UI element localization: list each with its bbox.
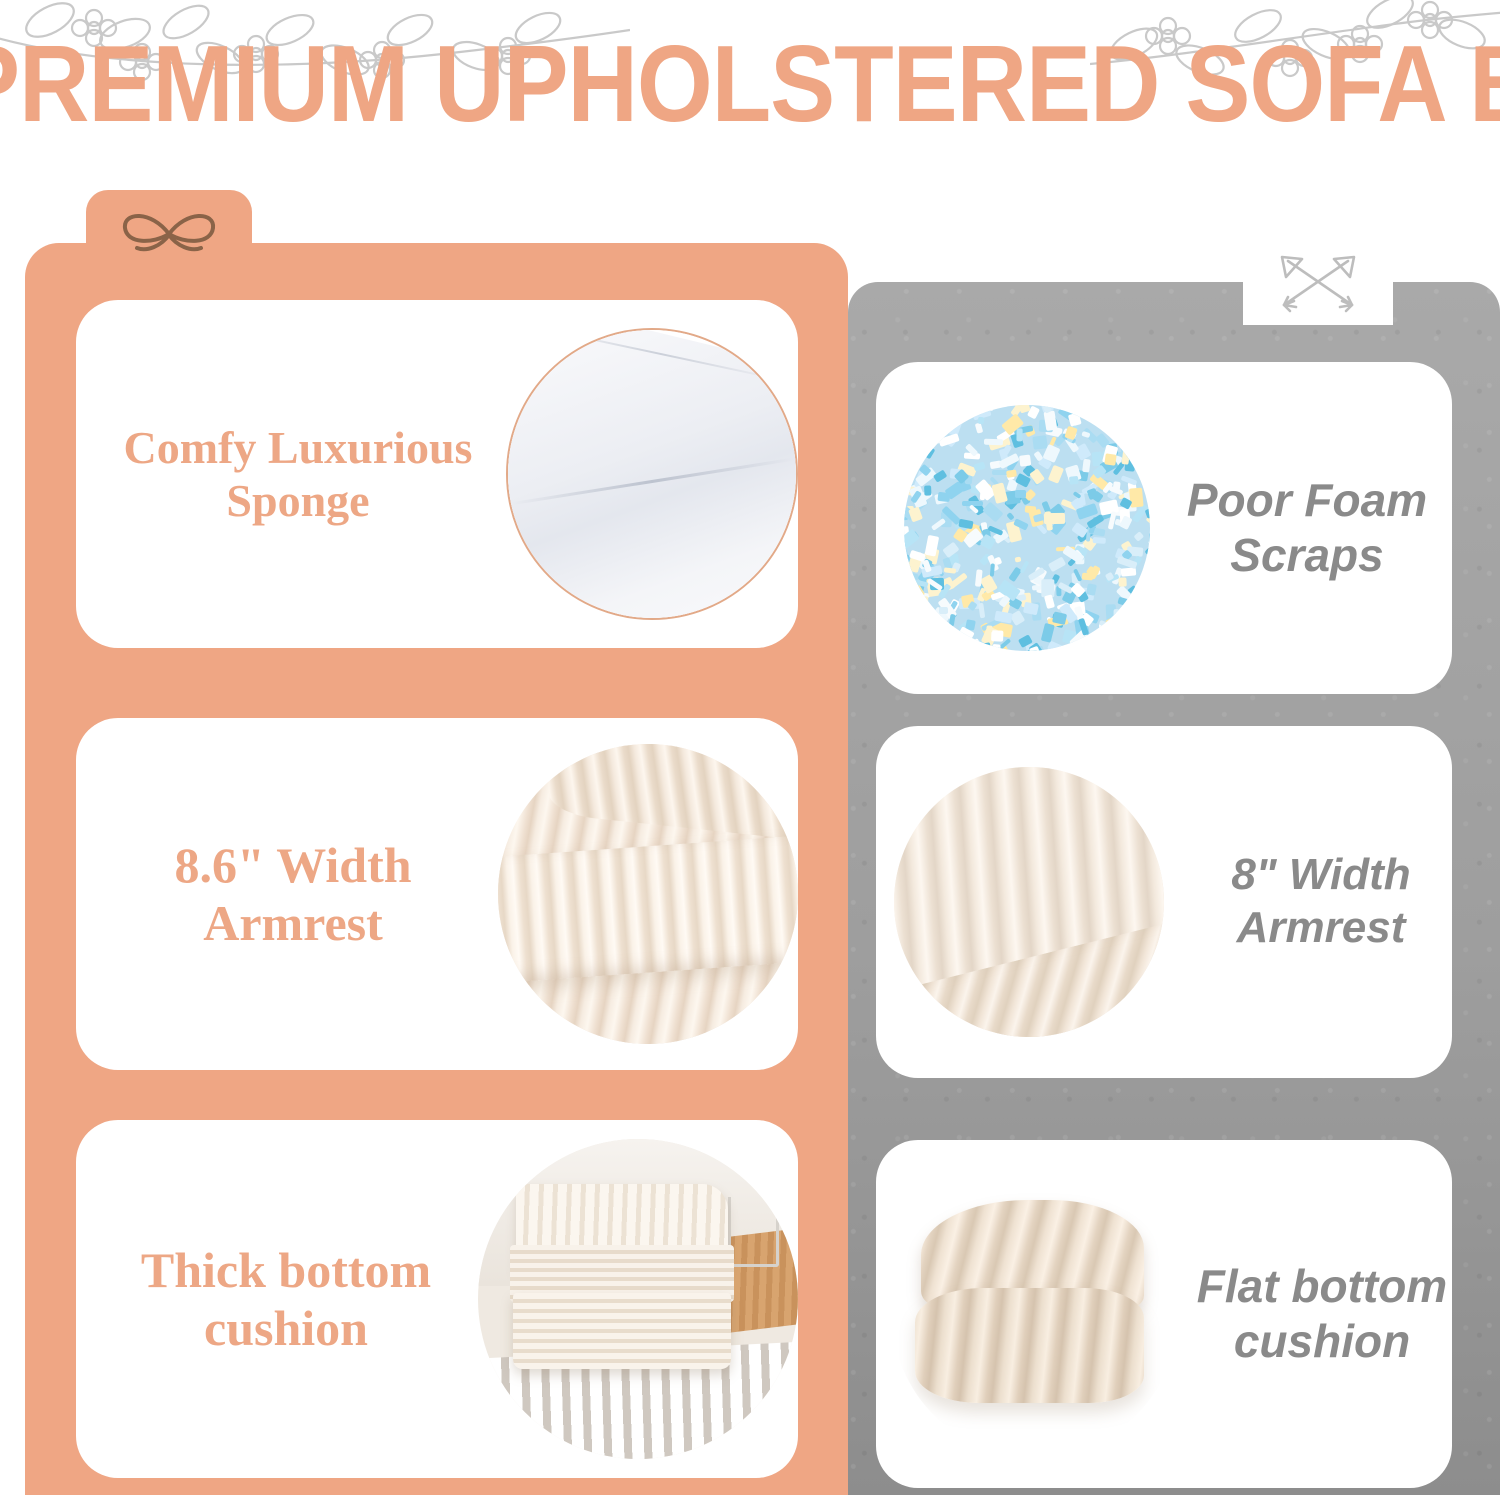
- feature-label-bad-2: 8" Width Armrest: [1190, 849, 1452, 955]
- feature-label-bad-3: Flat bottom cushion: [1192, 1259, 1452, 1369]
- feature-label-line2: cushion: [88, 1299, 484, 1357]
- feature-label-line2: cushion: [1192, 1314, 1452, 1369]
- feature-label-good-3: Thick bottom cushion: [88, 1241, 484, 1357]
- flat-stacked-cushion-photo: [892, 1171, 1178, 1457]
- page-title: PREMIUM UPHOLSTERED SOFA BED: [0, 30, 1500, 139]
- feature-label-line2: Armrest: [1190, 902, 1452, 955]
- thick-stacked-cushion-photo: [478, 1139, 798, 1459]
- feature-label-line1: Comfy Luxurious: [96, 421, 500, 474]
- infographic-root: PREMIUM UPHOLSTERED SOFA BED: [0, 0, 1500, 1495]
- bad-panel-tab: [1243, 243, 1393, 325]
- thin-ribbed-armrest-photo: [894, 767, 1164, 1037]
- feature-label-line1: 8.6" Width: [92, 836, 494, 894]
- feature-label-good-1: Comfy Luxurious Sponge: [96, 421, 500, 528]
- feature-card-good-2: 8.6" Width Armrest: [76, 718, 798, 1070]
- feature-label-line1: Flat bottom: [1192, 1259, 1452, 1314]
- crossed-arrows-icon: [1270, 253, 1366, 315]
- feature-label-line2: Scraps: [1162, 528, 1452, 583]
- feature-label-line2: Sponge: [96, 474, 500, 527]
- feature-label-bad-1: Poor Foam Scraps: [1162, 473, 1452, 583]
- feature-card-bad-1: Poor Foam Scraps: [876, 362, 1452, 694]
- feature-card-good-3: Thick bottom cushion: [76, 1120, 798, 1478]
- feature-label-line2: Armrest: [92, 894, 494, 952]
- feature-label-line1: Thick bottom: [88, 1241, 484, 1299]
- feature-label-line1: Poor Foam: [1162, 473, 1452, 528]
- feature-card-good-1: Comfy Luxurious Sponge: [76, 300, 798, 648]
- feature-card-bad-3: Flat bottom cushion: [876, 1140, 1452, 1488]
- good-panel-tab: [86, 190, 252, 276]
- feature-label-line1: 8" Width: [1190, 849, 1452, 902]
- feature-card-bad-2: 8" Width Armrest: [876, 726, 1452, 1078]
- white-foam-block-photo: [506, 328, 798, 620]
- bow-ribbon-icon: [113, 204, 225, 262]
- thick-ribbed-armrest-photo: [498, 744, 798, 1044]
- blue-shredded-foam-scraps-photo: [904, 405, 1150, 651]
- feature-label-good-2: 8.6" Width Armrest: [92, 836, 494, 952]
